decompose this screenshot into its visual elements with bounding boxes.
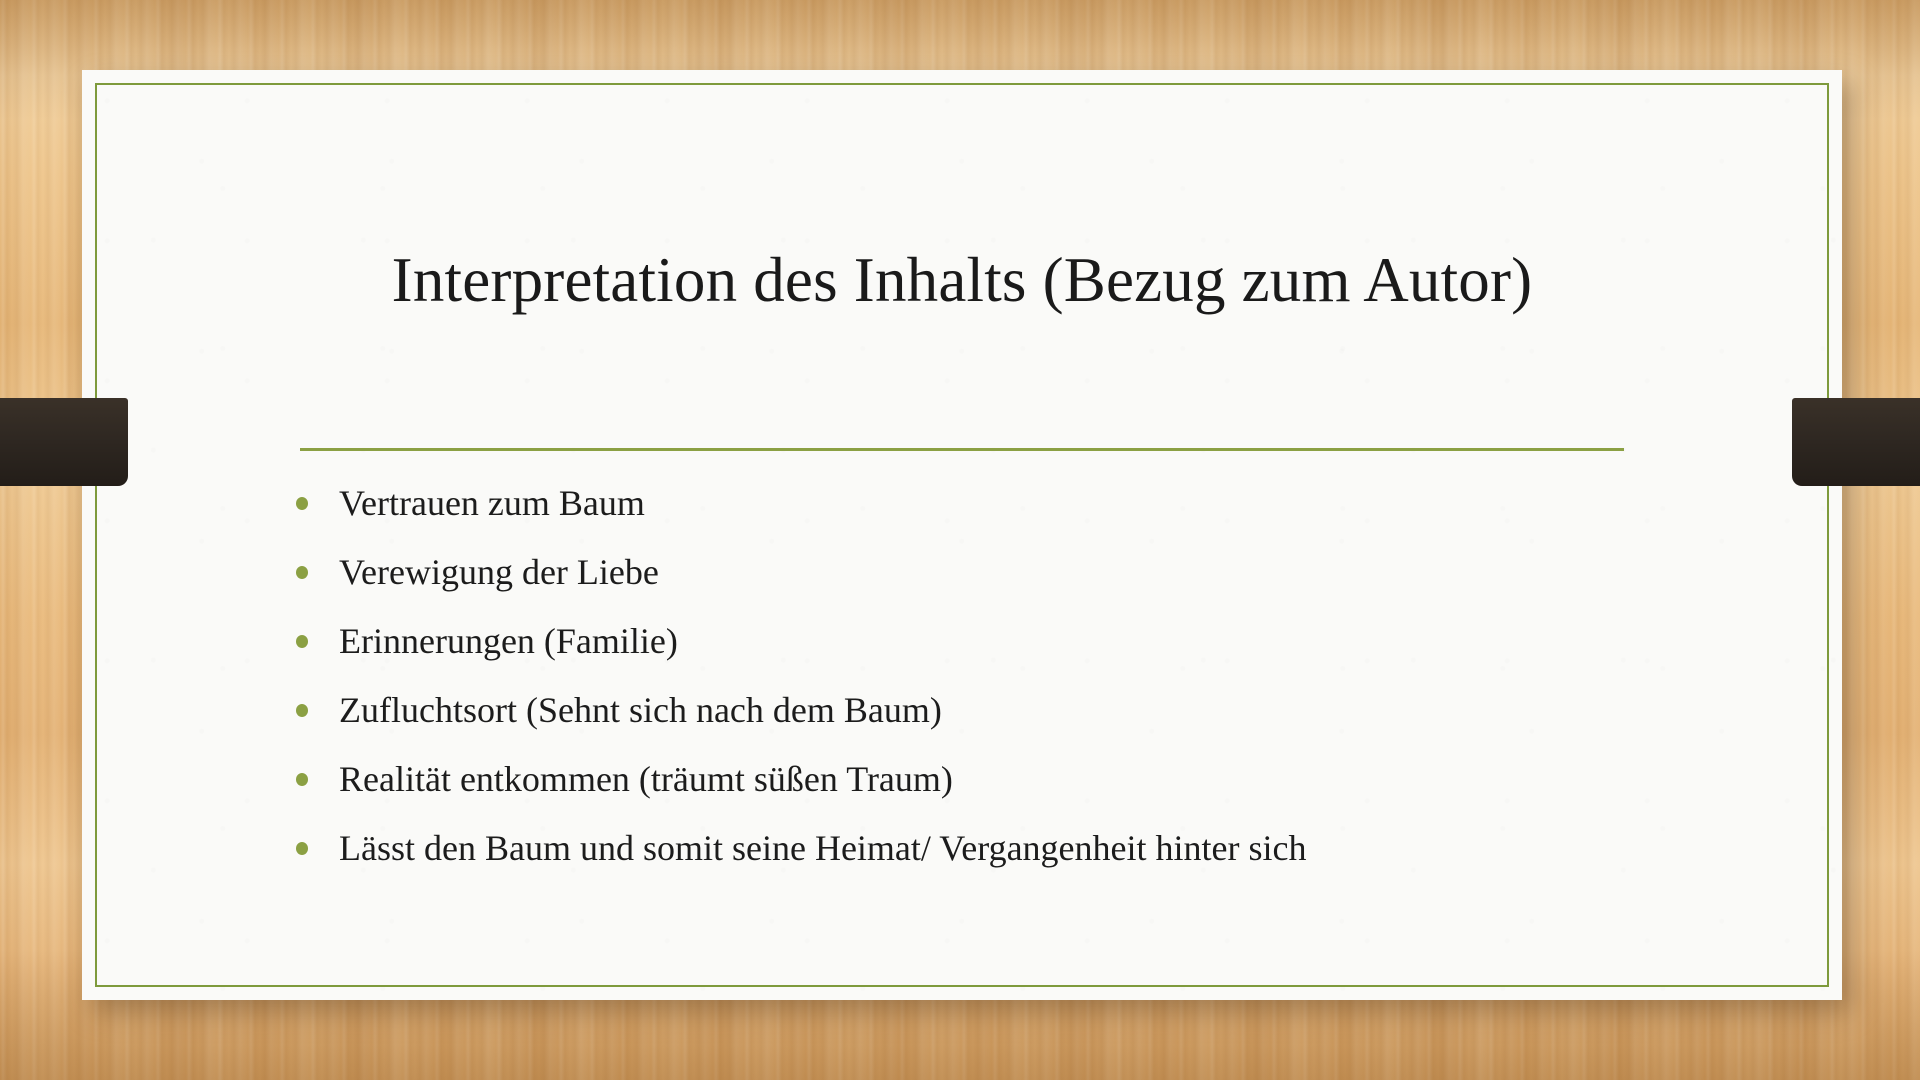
bullet-dot-icon bbox=[296, 566, 308, 579]
list-item-label: Zufluchtsort (Sehnt sich nach dem Baum) bbox=[339, 690, 942, 730]
bullet-dot-icon bbox=[296, 704, 308, 717]
list-item: Verewigung der Liebe bbox=[292, 549, 1726, 595]
list-item-label: Erinnerungen (Familie) bbox=[339, 621, 678, 661]
list-item-label: Vertrauen zum Baum bbox=[339, 483, 645, 523]
title-divider-rule bbox=[300, 448, 1624, 451]
bullet-dot-icon bbox=[296, 773, 308, 786]
list-item: Vertrauen zum Baum bbox=[292, 480, 1726, 526]
list-item: Realität entkommen (träumt süßen Traum) bbox=[292, 756, 1726, 802]
tape-clip-right-icon bbox=[1792, 398, 1920, 486]
slide-title: Interpretation des Inhalts (Bezug zum Au… bbox=[198, 246, 1726, 315]
bullet-dot-icon bbox=[296, 497, 308, 510]
list-item: Erinnerungen (Familie) bbox=[292, 618, 1726, 664]
bullet-dot-icon bbox=[296, 842, 308, 855]
list-item: Zufluchtsort (Sehnt sich nach dem Baum) bbox=[292, 687, 1726, 733]
tape-clip-left-icon bbox=[0, 398, 128, 486]
slide-content: Interpretation des Inhalts (Bezug zum Au… bbox=[82, 70, 1842, 1000]
list-item: Lässt den Baum und somit seine Heimat/ V… bbox=[292, 825, 1726, 871]
list-item-label: Verewigung der Liebe bbox=[339, 552, 659, 592]
presentation-slide: Interpretation des Inhalts (Bezug zum Au… bbox=[0, 0, 1920, 1080]
bullet-dot-icon bbox=[296, 635, 308, 648]
list-item-label: Realität entkommen (träumt süßen Traum) bbox=[339, 759, 953, 799]
slide-card: Interpretation des Inhalts (Bezug zum Au… bbox=[82, 70, 1842, 1000]
bullet-list: Vertrauen zum Baum Verewigung der Liebe … bbox=[292, 480, 1726, 894]
list-item-label: Lässt den Baum und somit seine Heimat/ V… bbox=[339, 828, 1306, 868]
